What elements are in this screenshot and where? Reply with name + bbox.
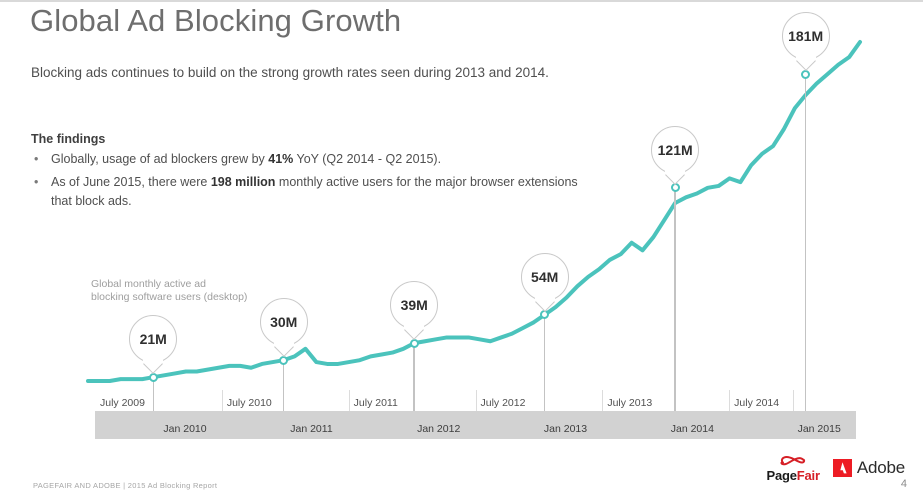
x-axis-tick-lower: Jan 2015 <box>798 423 841 435</box>
x-axis-tick-upper: July 2013 <box>607 397 652 409</box>
x-axis-tick-upper: July 2011 <box>354 397 398 409</box>
chart-callout-label: 21M <box>140 331 167 347</box>
x-axis-tick-lower: Jan 2012 <box>417 423 460 435</box>
callout-drop-line <box>544 315 545 411</box>
x-axis-separator <box>349 390 350 411</box>
adobe-wordmark: Adobe <box>857 458 905 478</box>
x-axis-lower-band <box>95 411 856 439</box>
logo-group: PageFair Adobe <box>767 455 906 481</box>
slide: Global Ad Blocking Growth Blocking ads c… <box>0 0 923 503</box>
chart-callout: 30M <box>260 298 308 346</box>
x-axis-tick-upper: July 2012 <box>481 397 526 409</box>
adobe-a-icon <box>833 459 852 477</box>
pagefair-logo: PageFair <box>767 455 820 482</box>
chart-callout-label: 121M <box>658 142 693 158</box>
callout-tail-mask <box>796 53 816 59</box>
callout-drop-line <box>283 360 284 411</box>
chart-callout-label: 181M <box>788 28 823 44</box>
pagefair-wordmark: PageFair <box>767 469 820 482</box>
line-chart: Global monthly active ad blocking softwa… <box>0 0 923 455</box>
x-axis-tick-lower: Jan 2014 <box>671 423 714 435</box>
callout-drop-line <box>805 74 806 411</box>
chart-callout: 181M <box>782 12 830 60</box>
chart-line-series <box>88 42 860 381</box>
x-axis-tick-lower: Jan 2013 <box>544 423 587 435</box>
adobe-logo: Adobe <box>833 458 905 478</box>
x-axis-tick-lower: Jan 2011 <box>290 423 332 435</box>
x-axis-separator <box>476 390 477 411</box>
chart-callout: 121M <box>651 126 699 174</box>
pagefair-word-fair: Fair <box>797 468 820 483</box>
x-axis-separator <box>729 390 730 411</box>
chart-callout: 54M <box>521 253 569 301</box>
callout-tail-mask <box>274 339 294 345</box>
pagefair-loop-icon <box>780 455 806 468</box>
pagefair-word-page: Page <box>767 468 797 483</box>
callout-drop-line <box>413 343 414 411</box>
chart-callout-label: 54M <box>531 269 558 285</box>
chart-plot-area <box>0 0 923 455</box>
x-axis-tick-upper: July 2014 <box>734 397 779 409</box>
x-axis-tick-upper: July 2009 <box>100 397 145 409</box>
x-axis-separator <box>222 390 223 411</box>
callout-tail-mask <box>535 294 555 300</box>
x-axis-tick-upper: July 2010 <box>227 397 272 409</box>
data-point-marker <box>149 373 158 382</box>
x-axis-tick-lower: Jan 2010 <box>163 423 206 435</box>
x-axis-separator <box>793 390 794 411</box>
x-axis-separator <box>602 390 603 411</box>
callout-tail-mask <box>143 356 163 362</box>
chart-callout-label: 39M <box>401 297 428 313</box>
chart-callout: 39M <box>390 281 438 329</box>
callout-tail-mask <box>404 322 424 328</box>
callout-drop-line <box>674 188 675 411</box>
footer-source-note: PAGEFAIR AND ADOBE | 2015 Ad Blocking Re… <box>33 481 217 490</box>
chart-callout-label: 30M <box>270 314 297 330</box>
data-point-marker <box>410 339 419 348</box>
callout-drop-line <box>153 377 154 411</box>
callout-tail-mask <box>665 167 685 173</box>
